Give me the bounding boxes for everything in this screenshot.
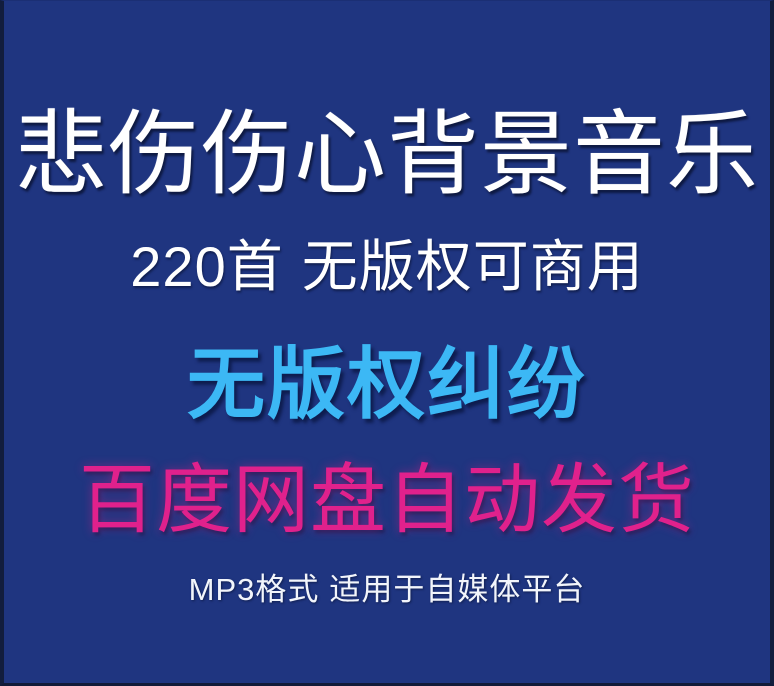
banner-title: 悲伤伤心背景音乐 bbox=[4, 109, 770, 201]
banner-delivery-method: 百度网盘自动发货 bbox=[4, 463, 770, 539]
banner-count-line: 220首无版权可商用 bbox=[4, 239, 770, 295]
usage-scope-label: 适用于自媒体平台 bbox=[329, 572, 585, 607]
promo-banner: 悲伤伤心背景音乐 220首无版权可商用 无版权纠纷 百度网盘自动发货 MP3格式… bbox=[0, 0, 774, 686]
banner-highlight-no-copyright-dispute: 无版权纠纷 bbox=[4, 345, 770, 423]
license-label: 无版权可商用 bbox=[302, 235, 644, 298]
track-quantity: 220首 bbox=[130, 235, 283, 298]
file-format-label: MP3格式 bbox=[189, 572, 320, 607]
banner-format-line: MP3格式适用于自媒体平台 bbox=[4, 574, 770, 605]
